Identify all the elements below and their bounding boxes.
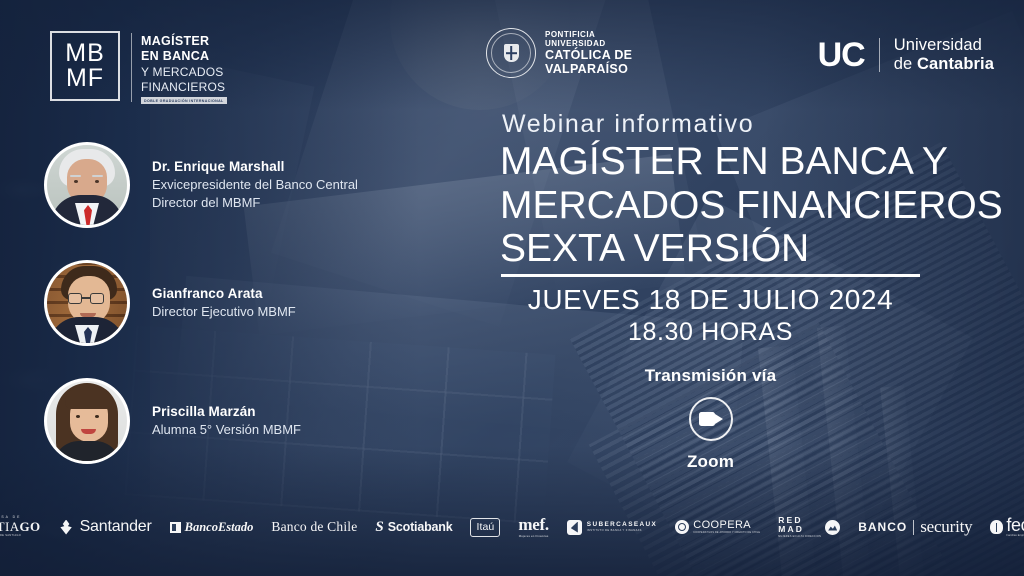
speaker-text: Priscilla Marzán Alumna 5° Versión MBMF (152, 404, 301, 438)
uc-line1: Universidad (894, 36, 994, 55)
sponsor-banco-security: BANCO security (849, 517, 981, 537)
speaker-role-line2: Director del MBMF (152, 194, 358, 211)
sponsor-bancoestado: BancoEstado (161, 520, 263, 535)
title-line-1: MAGÍSTER EN BANCA Y (500, 140, 1003, 184)
sponsor-fec-sub: Familias Empresarias de Chile (1006, 535, 1024, 537)
mbmf-monogram-bottom: MF (66, 66, 104, 92)
coopera-mark-icon (675, 520, 689, 534)
webinar-kicker: Webinar informativo (502, 110, 754, 139)
sponsor-fec: fec Familias Empresarias de Chile (981, 516, 1024, 537)
sponsor-bolsa-de-santiago: BOLSA DE SANTIAGO BOLSA DE SANTIAGO (0, 516, 50, 538)
sponsor-banco-de-chile: Banco de Chile (262, 519, 366, 535)
flame-icon (59, 520, 74, 535)
uc-wordmark: Universidad de Cantabria (894, 36, 994, 74)
sponsor-redmad-line2: MAD (778, 525, 821, 534)
sponsor-coopera-sub: COOPERATIVAS DE AHORRO Y CRÉDITO DE CHIL… (693, 532, 760, 534)
pucv-logo: PONTIFICIA UNIVERSIDAD CATÓLICA DE VALPA… (486, 28, 632, 78)
event-time: 18.30 HORAS (500, 318, 921, 347)
sponsor-santander: Santander (50, 518, 161, 536)
mbmf-line4: FINANCIEROS (141, 80, 227, 95)
avatar (44, 142, 130, 228)
mbmf-tagline: DOBLE GRADUACIÓN INTERNACIONAL (141, 97, 227, 104)
shield-icon (504, 44, 519, 62)
uc-divider (879, 38, 880, 72)
sponsor-mef: mef. Mujeres en Finanzas (509, 516, 557, 537)
pucv-wordmark: PONTIFICIA UNIVERSIDAD CATÓLICA DE VALPA… (545, 30, 632, 77)
mbmf-monogram-top: MB (65, 41, 105, 67)
sponsor-bancochile-main: Banco de Chile (271, 519, 357, 535)
mbmf-monogram-box: MB MF (50, 31, 120, 101)
sponsor-bancoestado-main: BancoEstado (185, 520, 254, 535)
fec-tree-icon (990, 520, 1003, 534)
sponsor-subercaseaux-sub: INSTITUTO DE BANCA Y FINANZAS (587, 530, 657, 533)
event-date: JUEVES 18 DE JULIO 2024 (500, 284, 921, 316)
universidad-cantabria-logo: UC Universidad de Cantabria (818, 36, 994, 74)
sponsor-fec-main: fec (1006, 516, 1024, 534)
speaker-role-line1: Alumna 5° Versión MBMF (152, 421, 301, 438)
sponsor-bolsa-sub: BOLSA DE SANTIAGO (0, 535, 21, 538)
transmission-block: Transmisión vía Zoom (500, 366, 921, 472)
sponsor-scotiabank-main: Scotiabank (388, 520, 453, 534)
sponsor-redmad: RED MAD MUJERES EN ALTA DIRECCIÓN (769, 516, 849, 539)
speaker-list: Dr. Enrique Marshall Exvicepresidente de… (44, 133, 464, 487)
pucv-line3: CATÓLICA DE (545, 48, 632, 62)
bancoestado-mark-icon (170, 522, 181, 533)
avatar (44, 260, 130, 346)
speaker-item: Dr. Enrique Marshall Exvicepresidente de… (44, 133, 464, 237)
platform-label: Zoom (500, 452, 921, 472)
subercaseaux-mark-icon (567, 520, 582, 535)
transmission-label: Transmisión vía (500, 366, 921, 386)
sponsor-security-main1: BANCO (858, 520, 907, 534)
speaker-name: Dr. Enrique Marshall (152, 159, 358, 174)
sponsor-bar: SANFI SANTANDER FINANCIAL INSTITUTE SANT… (0, 510, 1024, 544)
mbmf-wordmark: MAGÍSTER EN BANCA Y MERCADOS FINANCIEROS… (141, 31, 227, 104)
speaker-text: Gianfranco Arata Director Ejecutivo MBMF (152, 286, 296, 320)
mbmf-logo: MB MF MAGÍSTER EN BANCA Y MERCADOS FINAN… (50, 31, 227, 104)
sponsor-mef-sub: Mujeres en Finanzas (519, 535, 549, 538)
uc-line2-bold: Cantabria (917, 55, 994, 73)
sponsor-bolsa-top: BOLSA DE (0, 516, 21, 519)
security-divider (913, 520, 914, 535)
speaker-role-line1: Exvicepresidente del Banco Central (152, 176, 358, 193)
speaker-text: Dr. Enrique Marshall Exvicepresidente de… (152, 159, 358, 210)
pucv-line1: PONTIFICIA (545, 30, 632, 39)
speaker-name: Priscilla Marzán (152, 404, 301, 419)
sponsor-mef-main: mef. (518, 516, 548, 533)
video-camera-icon (689, 397, 733, 441)
mbmf-divider (131, 33, 132, 102)
sponsor-santander-main: Santander (80, 518, 152, 536)
mbmf-line3: Y MERCADOS (141, 65, 227, 80)
mbmf-line2: EN BANCA (141, 49, 227, 64)
sponsor-itau: Itaú (461, 518, 509, 537)
title-line-2: MERCADOS FINANCIEROS (500, 184, 1003, 228)
sponsor-bolsa-main-light: SANTIA (0, 519, 20, 534)
mbmf-line1: MAGÍSTER (141, 34, 227, 49)
sponsor-subercaseaux: SUBERCASEAUX INSTITUTO DE BANCA Y FINANZ… (558, 520, 666, 535)
speaker-item: Priscilla Marzán Alumna 5° Versión MBMF (44, 369, 464, 473)
speaker-name: Gianfranco Arata (152, 286, 296, 301)
speaker-item: Gianfranco Arata Director Ejecutivo MBMF (44, 251, 464, 355)
content-layer: MB MF MAGÍSTER EN BANCA Y MERCADOS FINAN… (0, 0, 1024, 576)
sponsor-coopera-main: COOPERA (693, 520, 760, 531)
title-line-3: SEXTA VERSIÓN (500, 227, 1003, 271)
pucv-line4: VALPARAÍSO (545, 62, 632, 76)
sponsor-coopera: COOPERA COOPERATIVAS DE AHORRO Y CRÉDITO… (666, 520, 769, 535)
redmad-mark-icon (825, 520, 840, 535)
avatar (44, 378, 130, 464)
sponsor-redmad-sub: MUJERES EN ALTA DIRECCIÓN (778, 536, 821, 539)
uc-monogram: UC (818, 38, 865, 72)
uc-line2-light: de (894, 55, 917, 73)
page-title: MAGÍSTER EN BANCA Y MERCADOS FINANCIEROS… (500, 140, 1003, 271)
sponsor-scotiabank: S Scotiabank (366, 519, 461, 536)
pucv-seal-icon (486, 28, 536, 78)
scotiabank-mark-icon: S (375, 519, 383, 536)
sponsor-bolsa-main-bold: GO (20, 519, 41, 534)
title-divider (501, 274, 920, 277)
sponsor-itau-main: Itaú (470, 518, 500, 537)
sponsor-security-main2: security (920, 517, 972, 537)
pucv-line2: UNIVERSIDAD (545, 39, 632, 48)
sponsor-subercaseaux-main: SUBERCASEAUX (587, 522, 657, 528)
speaker-role-line1: Director Ejecutivo MBMF (152, 303, 296, 320)
